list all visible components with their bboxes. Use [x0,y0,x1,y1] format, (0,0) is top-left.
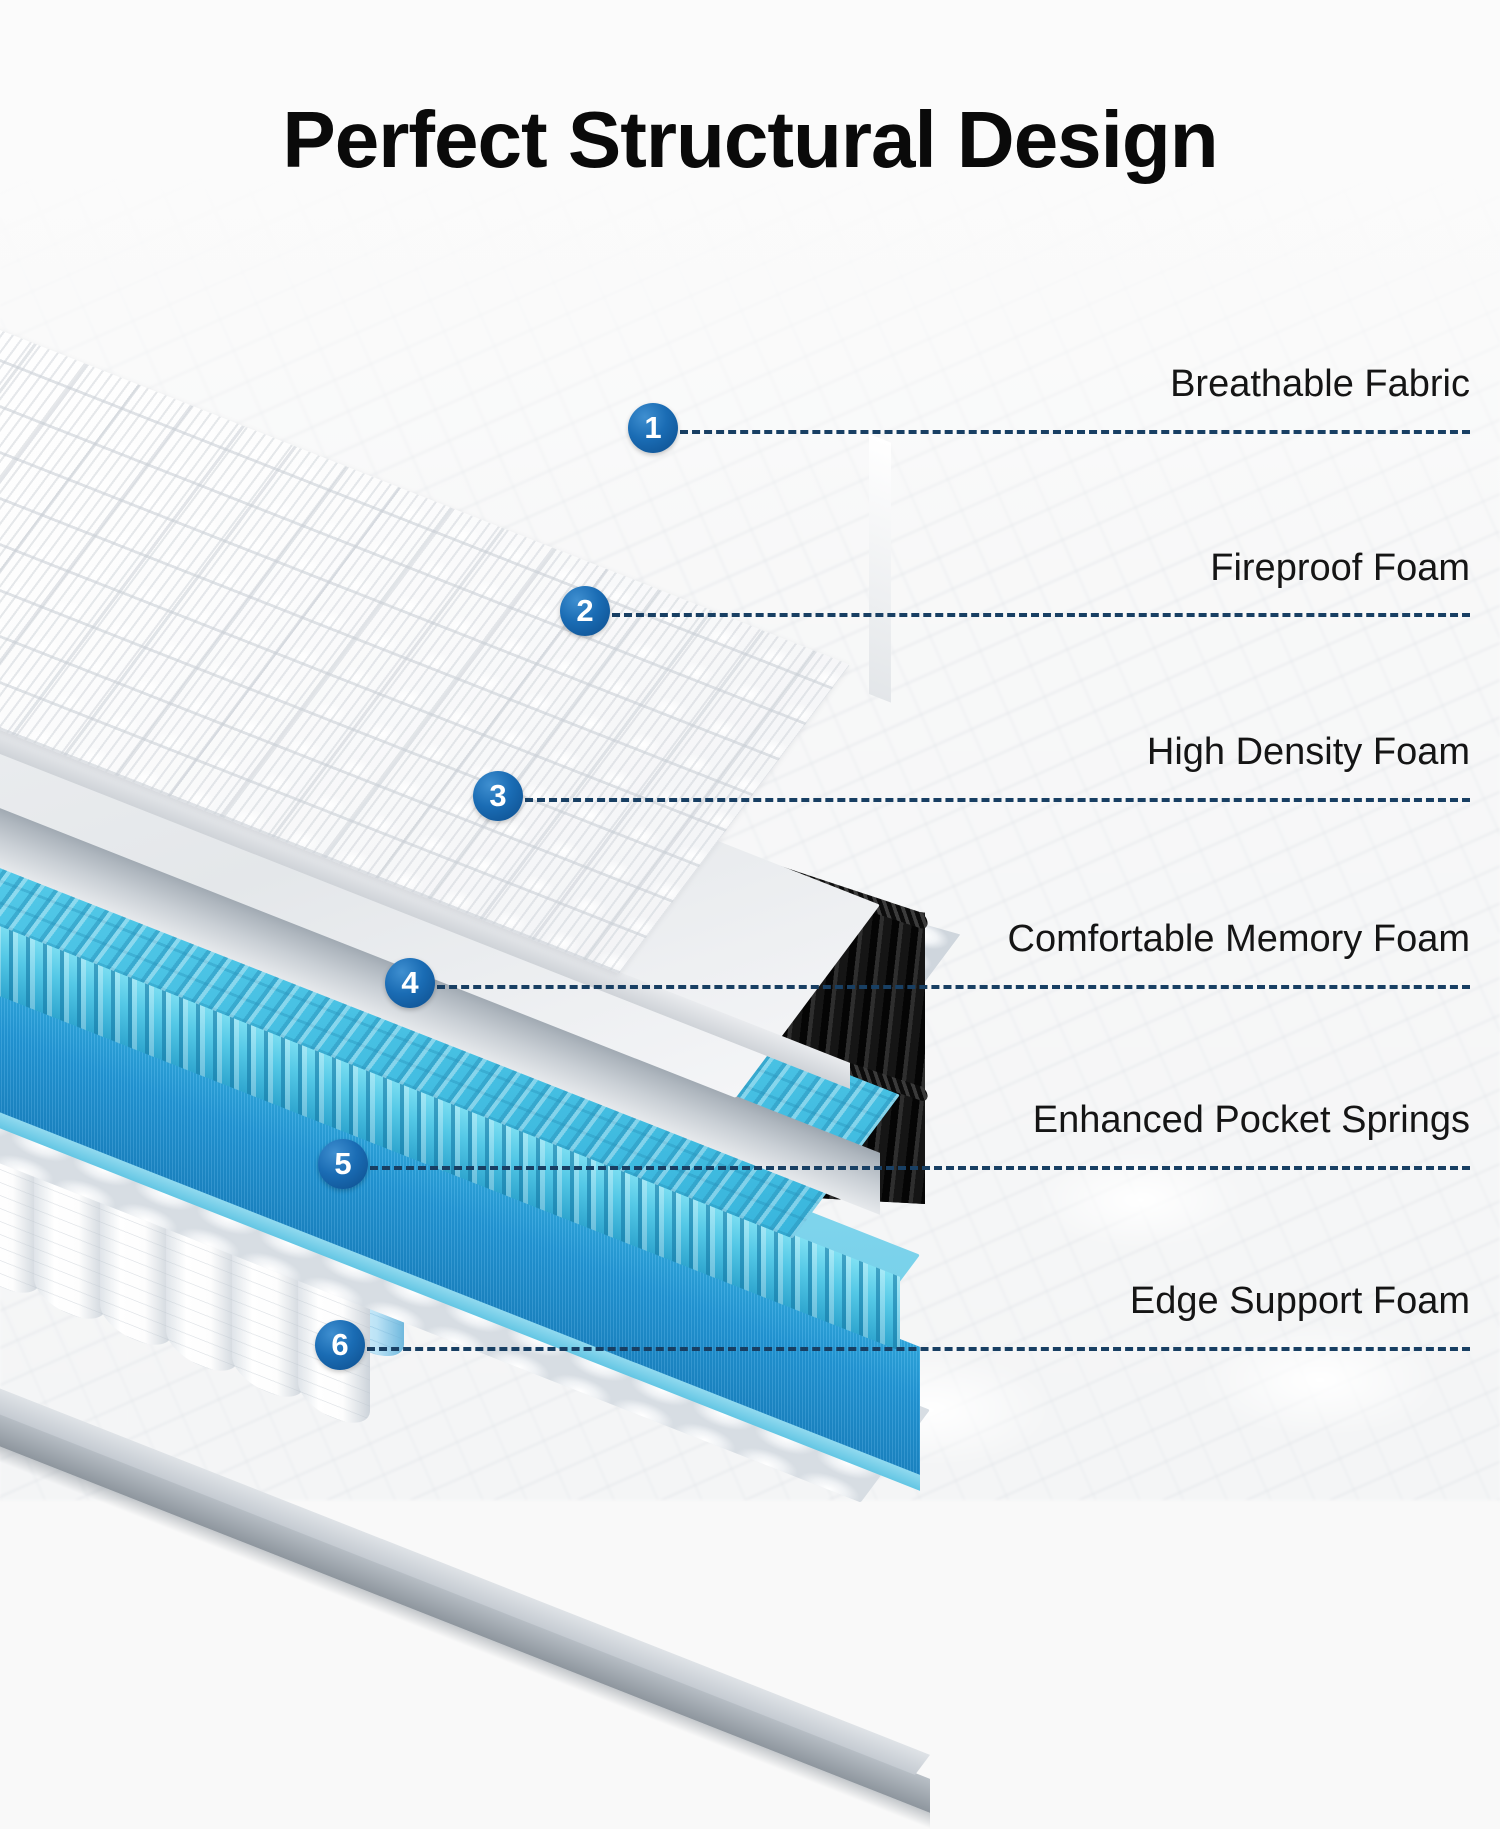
callout-leader-line [367,1347,1470,1351]
callout-leader-line [437,985,1470,989]
callout-leader-line [370,1166,1470,1170]
callout-number-badge[interactable]: 6 [315,1320,365,1370]
callout-leader-line [680,430,1470,434]
callout-number-badge[interactable]: 5 [318,1139,368,1189]
callout-label: Breathable Fabric [0,363,1470,406]
callout-label: Comfortable Memory Foam [0,918,1470,961]
callout-number-badge[interactable]: 4 [385,958,435,1008]
callout-leader-line [612,613,1470,617]
callout-label: Fireproof Foam [0,547,1470,590]
callout-number-badge[interactable]: 3 [473,771,523,821]
callout-label: Enhanced Pocket Springs [0,1099,1470,1142]
callout-label: Edge Support Foam [0,1280,1470,1323]
callout-label: High Density Foam [0,731,1470,774]
callout-number-badge[interactable]: 1 [628,403,678,453]
callout-leader-line [525,798,1470,802]
callout-number-badge[interactable]: 2 [560,586,610,636]
